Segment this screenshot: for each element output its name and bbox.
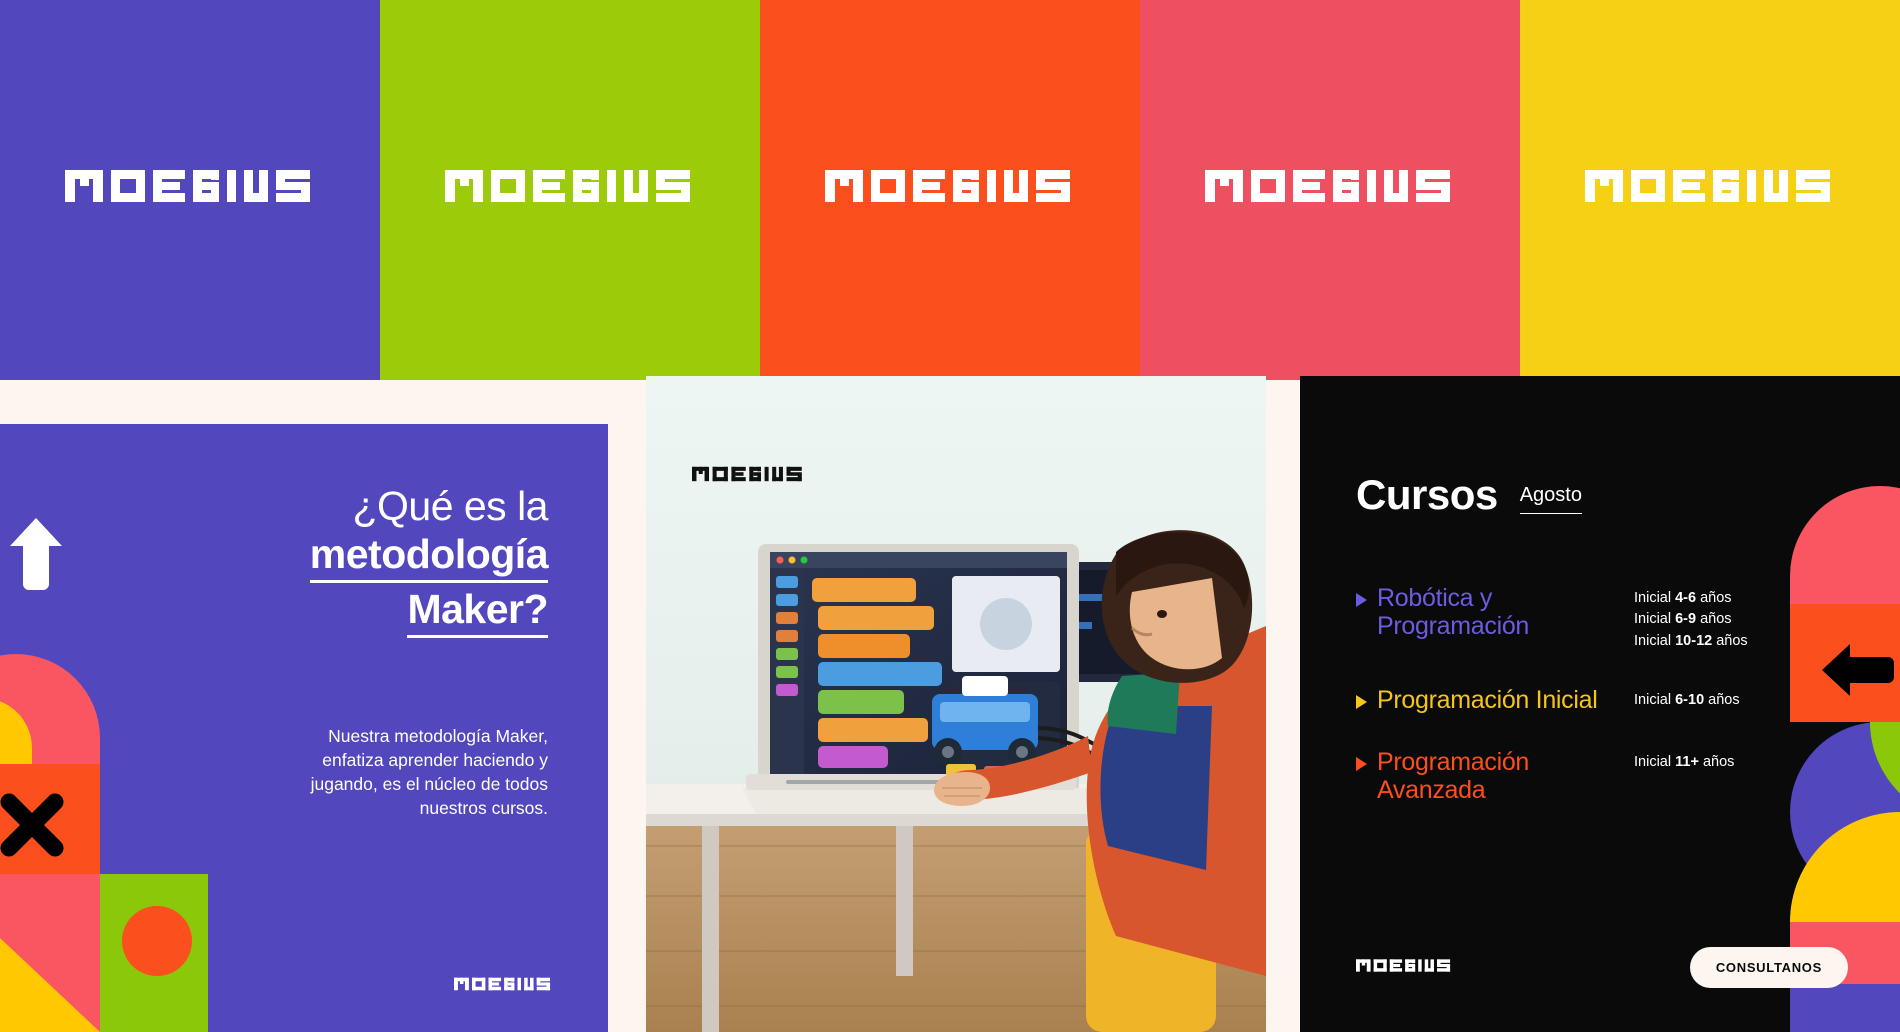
course-item[interactable]: Robótica y Programación Inicial 4-6 años… [1356,584,1856,652]
moebius-logo [1356,957,1452,979]
course-item[interactable]: Programación Avanzada Inicial 11+ años [1356,748,1856,804]
courses-title: Cursos [1356,474,1498,516]
course-age-list: Inicial 11+ años [1634,748,1734,773]
course-age-row: Inicial 6-9 años [1634,609,1748,630]
brand-banner [0,0,1900,380]
heading-line-2: metodología [310,532,548,583]
age-range: 6-10 [1675,692,1704,708]
moebius-logo [692,464,804,489]
methodology-body-text: Nuestra metodología Maker, enfatiza apre… [278,724,548,821]
course-name: Robótica y Programación [1377,584,1634,640]
banner-band-green [380,0,760,380]
course-item[interactable]: Programación Inicial Inicial 6-10 años [1356,686,1856,714]
x-mark-icon [0,791,66,864]
moebius-logo [1585,164,1835,208]
course-age-row: Inicial 10-12 años [1634,631,1748,652]
decor-circle-orange [122,906,192,976]
course-name: Programación Avanzada [1377,748,1634,804]
moebius-logo [1205,164,1455,208]
age-prefix: Inicial [1634,754,1671,770]
course-age-row: Inicial 11+ años [1634,752,1734,773]
decor-bar-purple [1790,984,1900,1032]
student-photo [646,376,1266,1032]
poster-canvas: ¿Qué es la metodología Maker? Nuestra me… [0,0,1900,1032]
moebius-logo [454,975,552,998]
moebius-logo [445,164,695,208]
decor-quarter-green [1870,722,1900,822]
banner-band-purple [0,0,380,380]
age-prefix: Inicial [1634,611,1671,627]
age-unit: años [1703,754,1734,770]
heading-line-1: ¿Qué es la [218,484,548,530]
age-range: 6-9 [1675,611,1696,627]
heading-line-3: Maker? [407,587,548,638]
decor-triangle-yellow [0,874,100,1032]
age-range: 10-12 [1675,633,1712,649]
age-prefix: Inicial [1634,590,1671,606]
methodology-heading: ¿Qué es la metodología Maker? [218,484,548,638]
age-unit: años [1700,590,1731,606]
age-prefix: Inicial [1634,692,1671,708]
consultanos-button[interactable]: CONSULTANOS [1690,947,1848,988]
banner-band-pink [1140,0,1520,380]
course-age-row: Inicial 4-6 años [1634,588,1748,609]
banner-band-yellow [1520,0,1900,380]
courses-card: Cursos Agosto Robótica y Programación In… [1300,376,1900,1032]
triangle-bullet-icon [1356,695,1367,709]
arrow-up-icon [8,516,64,597]
age-unit: años [1716,633,1747,649]
courses-footer: CONSULTANOS [1356,947,1848,988]
course-age-row: Inicial 6-10 años [1634,690,1740,711]
content-row: ¿Qué es la metodología Maker? Nuestra me… [0,424,1900,1032]
banner-band-orange [760,0,1140,380]
moebius-logo [825,164,1075,208]
moebius-logo [65,164,315,208]
age-range: 4-6 [1675,590,1696,606]
triangle-bullet-icon [1356,593,1367,607]
courses-month-badge[interactable]: Agosto [1520,485,1582,514]
course-name: Programación Inicial [1377,686,1598,714]
triangle-bullet-icon [1356,757,1367,771]
courses-header: Cursos Agosto [1356,474,1582,516]
course-age-list: Inicial 4-6 años Inicial 6-9 años Inicia… [1634,584,1748,652]
course-age-list: Inicial 6-10 años [1634,686,1740,711]
age-range: 11+ [1675,754,1699,770]
age-prefix: Inicial [1634,633,1671,649]
age-unit: años [1708,692,1739,708]
courses-list: Robótica y Programación Inicial 4-6 años… [1356,584,1856,838]
age-unit: años [1700,611,1731,627]
decor-block-pink [0,874,100,1032]
methodology-card: ¿Qué es la metodología Maker? Nuestra me… [0,424,608,1032]
